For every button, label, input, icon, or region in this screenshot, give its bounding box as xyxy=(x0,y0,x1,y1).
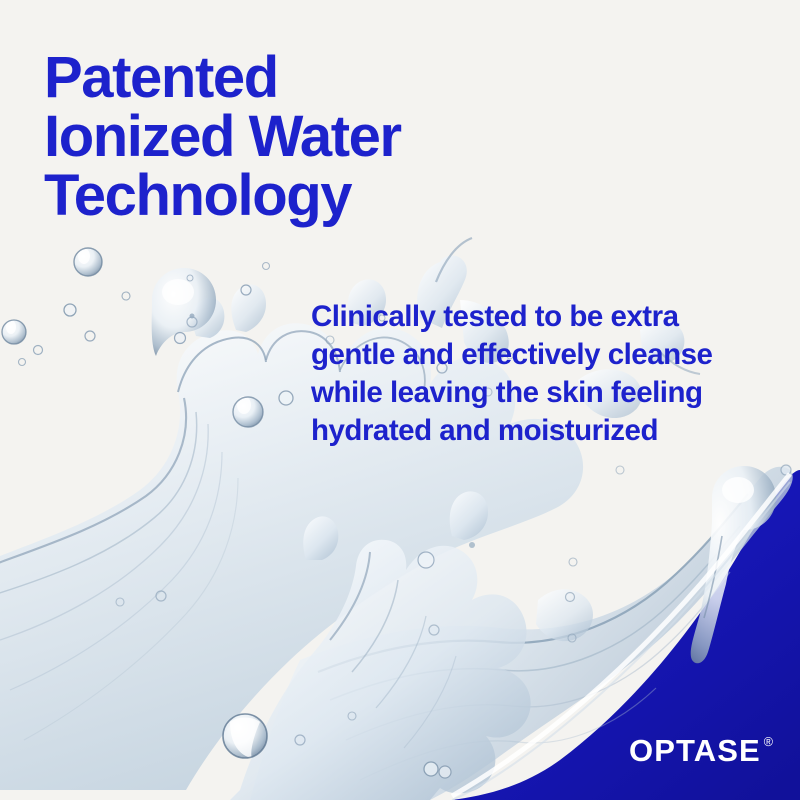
advertisement-canvas: Patented Ionized Water Technology Clinic… xyxy=(0,0,800,800)
page-title: Patented Ionized Water Technology xyxy=(44,48,564,225)
water-droplet-lower-left xyxy=(223,714,267,758)
registered-trademark-mark: ® xyxy=(764,736,773,749)
water-droplet-stalk-right xyxy=(691,466,776,663)
brand-logo: OPTASE ® xyxy=(629,735,773,766)
logo-wordmark: OPTASE xyxy=(629,735,761,766)
body-copy: Clinically tested to be extra gentle and… xyxy=(311,298,761,450)
water-droplets-scattered xyxy=(2,248,197,366)
water-droplet-large-crown xyxy=(152,268,216,356)
water-splash-lower-center xyxy=(230,491,593,800)
water-droplets-bottom xyxy=(116,591,451,778)
